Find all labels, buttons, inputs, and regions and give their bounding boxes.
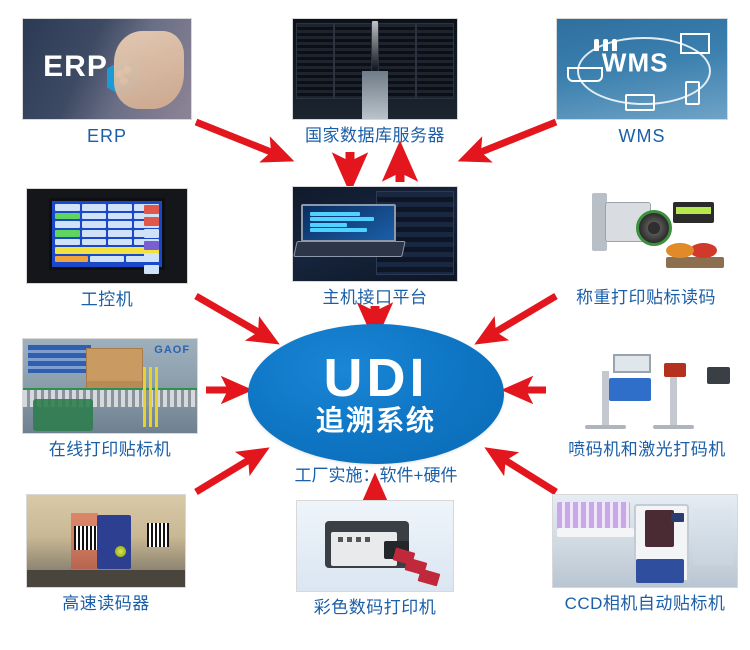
ship-icon [567,67,603,82]
reader-image [27,495,185,587]
ipc-thumbnail [26,188,188,284]
pallet-stack [28,345,91,373]
node-wms[interactable]: WMS WMS [556,18,728,146]
ipc-image [27,189,187,283]
phone-icon [685,81,700,105]
erp-thumbnail: ERP [22,18,192,120]
node-color-printer[interactable]: 彩色数码打印机 [296,500,454,618]
marker-image [553,339,741,433]
brand-watermark: GAOF [154,344,190,356]
machine-base [653,425,694,430]
color-printer-thumbnail [296,500,454,592]
arrow-wms-to-db [466,122,556,158]
marker-thumbnail [552,338,742,434]
barcode-reader-device [97,515,132,568]
printer-buttons [338,537,372,542]
laser-head [707,367,730,384]
labeler-unit [33,399,92,431]
wms-thumbnail: WMS [556,18,728,120]
node-host[interactable]: 主机接口平台 [292,186,458,308]
laptop-screen [301,204,396,242]
server-rack [416,23,454,99]
node-label-db-server: 国家数据库服务器 [305,126,445,146]
node-label-ccd: CCD相机自动贴标机 [565,594,726,614]
node-ipc[interactable]: 工控机 [26,188,188,310]
ccd-thumbnail [552,494,738,588]
laptop-keyboard [294,241,406,257]
coder-column [602,371,610,426]
node-label-weigh: 称重打印贴标读码 [576,288,716,308]
barcode-label [74,526,96,550]
node-label-marker: 喷码机和激光打码机 [568,440,726,460]
machine-base [585,425,626,430]
host-image [293,187,457,281]
erp-image: ERP [23,19,191,119]
safety-fence [143,367,159,427]
node-db-server[interactable]: 国家数据库服务器 [292,18,458,146]
coder-display [613,354,651,373]
inkjet-body [609,378,650,401]
node-label-color-printer: 彩色数码打印机 [314,598,437,618]
node-label-online-label: 在线打印贴标机 [49,440,172,460]
hmi-screen [49,198,164,269]
node-weigh[interactable]: 称重打印贴标读码 [560,186,732,308]
weigh-image [561,187,731,281]
lab-background [693,508,733,565]
laser-source [664,363,687,376]
scale-display [673,202,714,223]
laser-column [670,371,678,426]
wms-image: WMS [557,19,727,119]
arrow-ipc-to-center [196,296,272,340]
truck-icon [625,94,655,111]
aisle-floor [362,71,388,119]
weigh-thumbnail [560,186,732,282]
wms-image-word: WMS [602,48,669,79]
monitor-icon [680,33,710,54]
label-reel [636,210,672,246]
erp-image-word: ERP [43,50,108,84]
db-server-image [293,19,457,119]
arrow-weigh-to-center [482,296,556,340]
conveyor-belt [27,570,185,587]
node-label-ipc: 工控机 [81,290,134,310]
ccd-image [553,495,737,587]
hand-shape [114,31,185,109]
server-rack [296,23,334,99]
printed-label [417,569,440,587]
node-label-reader: 高速读码器 [62,594,150,614]
cabinet-base [636,559,684,583]
node-online-label[interactable]: GAOF 在线打印贴标机 [22,338,198,460]
sample-tray [557,528,634,537]
node-ccd[interactable]: CCD相机自动贴标机 [552,494,738,614]
udi-subtitle: 追溯系统 [316,406,436,436]
udi-title: UDI [324,352,429,404]
host-thumbnail [292,186,458,282]
control-panel [671,513,684,521]
udi-system-diagram: ERP ERP 国家数据库服务器 [0,0,750,650]
udi-center-node[interactable]: UDI 追溯系统 [248,324,504,464]
barcode-label [147,523,169,547]
online-label-image: GAOF [23,339,197,433]
udi-caption: 工厂实施：软件+硬件 [248,466,504,486]
test-tube-rack [557,502,631,530]
hmi-side-buttons [144,205,158,277]
laptop-shape [301,204,396,257]
color-printer-image [297,501,453,591]
node-label-host: 主机接口平台 [323,288,428,308]
carton-box [86,348,144,391]
online-label-thumbnail: GAOF [22,338,198,434]
node-marker[interactable]: 喷码机和激光打码机 [552,338,742,460]
scale-platform [666,257,724,268]
reader-thumbnail [26,494,186,588]
node-label-erp: ERP [87,126,127,146]
node-reader[interactable]: 高速读码器 [26,494,186,614]
node-erp[interactable]: ERP ERP [22,18,192,146]
node-label-wms: WMS [619,126,666,146]
arrow-erp-to-db [196,122,286,158]
db-server-thumbnail [292,18,458,120]
